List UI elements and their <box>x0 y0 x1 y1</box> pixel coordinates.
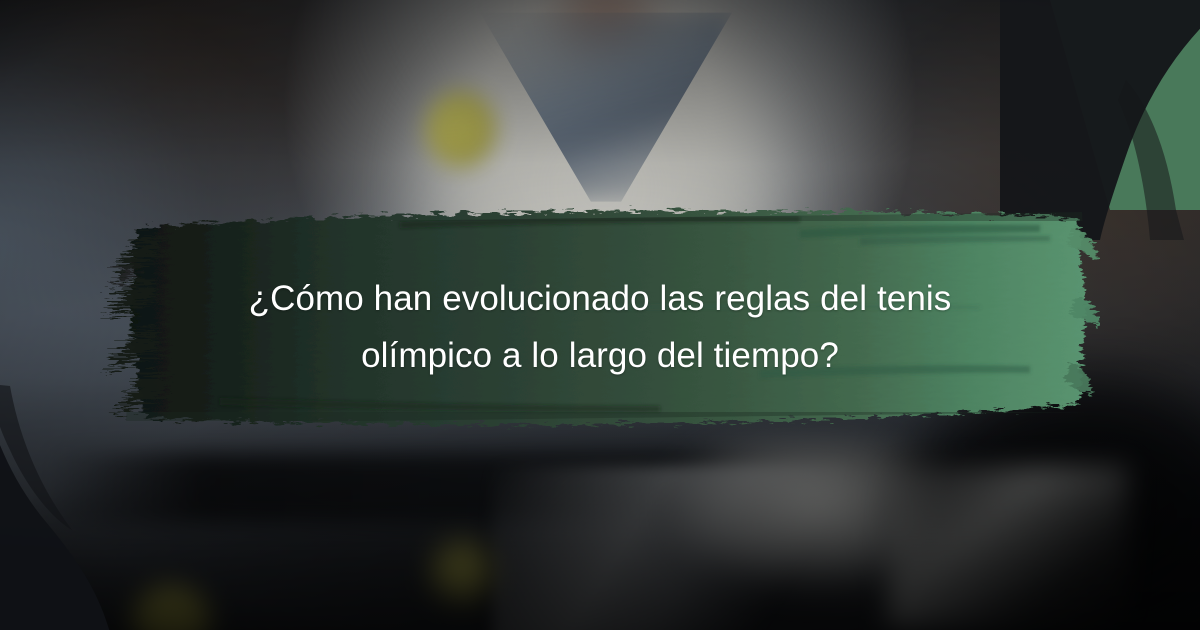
social-share-card: ¿Cómo han evolucionado las reglas del te… <box>0 0 1200 630</box>
headline-text: ¿Cómo han evolucionado las reglas del te… <box>130 270 1070 384</box>
